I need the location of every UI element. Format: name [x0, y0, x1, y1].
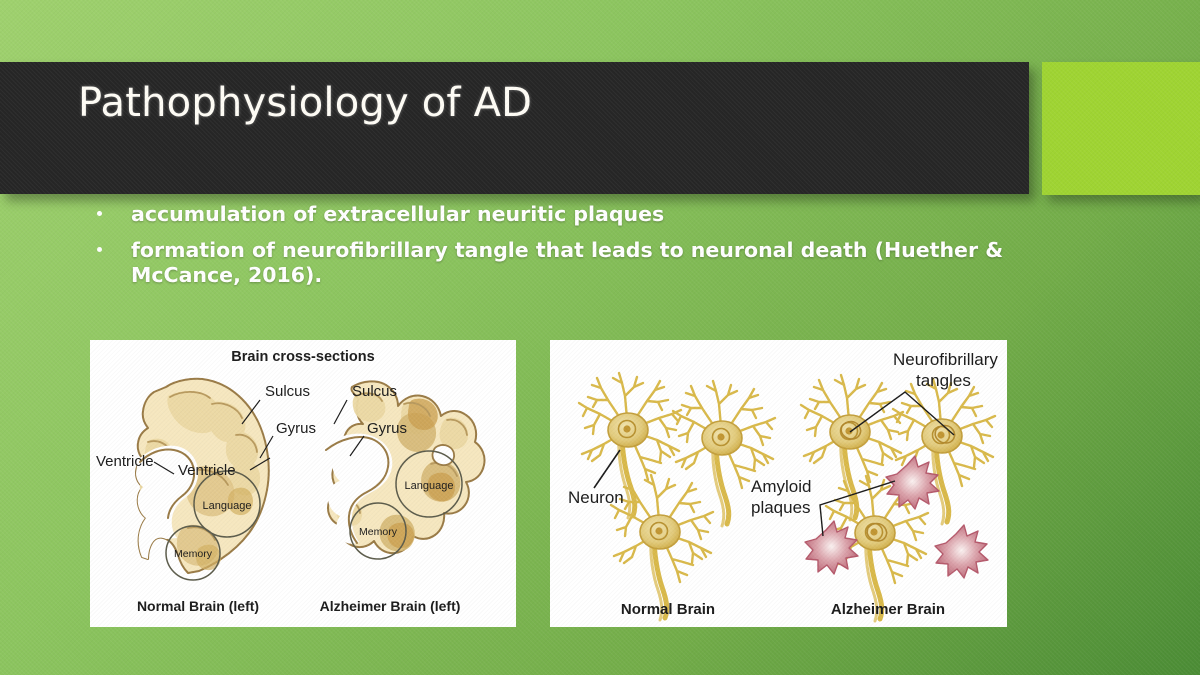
caption-normal-brain: Normal Brain — [621, 601, 715, 618]
bullet-dot-icon — [97, 247, 102, 252]
slide-canvas: Pathophysiology of AD accumulation of ex… — [0, 0, 1200, 675]
label-sulcus-alzheimer: Sulcus — [352, 383, 397, 400]
label-gyrus-alzheimer: Gyrus — [367, 420, 407, 437]
bullet-text: accumulation of extracellular neuritic p… — [131, 202, 664, 226]
alzheimer-brain-neurons: Neurofibrillary tangles Amyloid plaques — [751, 350, 998, 621]
label-memory-alzheimer: Memory — [359, 526, 398, 538]
caption-alzheimer-brain: Alzheimer Brain — [831, 601, 945, 618]
figure-neurons-plaques-tangles: Neuron — [550, 340, 1007, 627]
neuron-illustration — [893, 379, 995, 524]
label-amyloid-plaques-line1: Amyloid — [751, 477, 811, 496]
label-memory-normal: Memory — [174, 548, 213, 560]
bullet-dot-icon — [97, 211, 102, 216]
figure-title: Brain cross-sections — [231, 349, 374, 365]
label-neuron: Neuron — [568, 488, 624, 507]
amyloid-plaque — [886, 456, 939, 509]
label-gyrus-normal: Gyrus — [276, 420, 316, 437]
amyloid-plaque — [935, 525, 988, 578]
caption-alzheimer-brain-left: Alzheimer Brain (left) — [320, 598, 461, 614]
bullet-list: accumulation of extracellular neuritic p… — [90, 202, 1030, 299]
neuron-illustration — [611, 475, 713, 620]
label-language-alzheimer: Language — [405, 480, 454, 492]
label-neurofibrillary-tangles-line2: tangles — [916, 371, 971, 390]
page-title: Pathophysiology of AD — [78, 80, 532, 126]
amyloid-plaque — [805, 521, 858, 574]
label-ventricle-alzheimer: Ventricle — [178, 462, 236, 479]
leader-sulcus-alzheimer — [334, 400, 347, 424]
title-bar: Pathophysiology of AD — [0, 62, 1029, 194]
normal-brain-illustration: Language Memory Sulcus Gyrus Ventricle — [96, 379, 316, 580]
accent-block — [1042, 62, 1200, 195]
normal-brain-neurons: Neuron — [568, 373, 775, 620]
label-ventricle-normal: Ventricle — [96, 453, 154, 470]
caption-normal-brain-left: Normal Brain (left) — [137, 598, 259, 614]
label-amyloid-plaques-line2: plaques — [751, 498, 811, 517]
bullet-text: formation of neurofibrillary tangle that… — [131, 238, 1003, 287]
figure-brain-cross-sections: Brain cross-sections — [90, 340, 516, 627]
label-neurofibrillary-tangles-line1: Neurofibrillary — [893, 350, 998, 369]
label-language-normal: Language — [203, 500, 252, 512]
list-item: formation of neurofibrillary tangle that… — [90, 238, 1030, 288]
list-item: accumulation of extracellular neuritic p… — [90, 202, 1030, 227]
label-sulcus-normal: Sulcus — [265, 383, 310, 400]
